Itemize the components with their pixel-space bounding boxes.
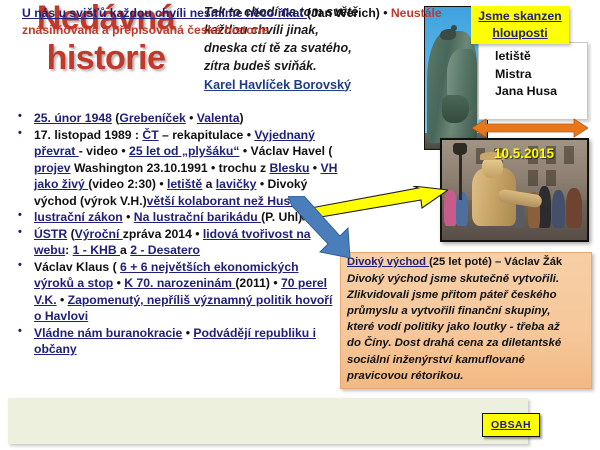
orange-body-line-6: sociální inženýrství kamuflované [347,352,586,368]
yellow-callout-line-1: Jsme skanzen [478,8,561,25]
orange-double-arrow-icon [472,118,588,138]
bullet-link[interactable]: Zapomenutý, nepříliš významný politik ho… [34,293,332,324]
list-item: 25. únor 1948 (Grebeníček • Valenta) [8,110,338,127]
orange-box-body: Divoký východ jsme skutečně vytvořili. Z… [347,271,586,384]
bullet-text: • [309,161,320,175]
title-line-2: historie [6,38,206,78]
orange-body-line-7: pravicovou rétorikou. [347,368,586,384]
bullet-link[interactable]: 1 - KHB [73,243,120,257]
bullet-text: zpráva 2014 • [123,227,203,241]
bullet-text: ( [67,227,74,241]
bullet-link[interactable]: ÚSTR [34,227,67,241]
bullet-link[interactable]: 2 - Desatero [130,243,200,257]
white-callout-box: letiště Mistra Jana Husa [478,42,588,120]
bullet-text: • [186,111,197,125]
orange-quote-box: Divoký východ (25 let poté) – Václav Žák… [340,252,592,389]
bullet-text: - video • [79,144,129,158]
bullet-link[interactable]: 25 let od „plyšáku“ [129,144,239,158]
white-callout-line-2: Mistra [495,66,587,84]
bullet-text: 17. listopad 1989 : [34,128,142,142]
bullet-text: • [57,293,68,307]
bullet-link[interactable]: projev [34,161,71,175]
bullet-link[interactable]: Blesku [269,161,309,175]
bullet-text: • [113,276,124,290]
white-callout-line-3: Jana Husa [495,83,587,101]
orange-body-line-3: průmyslu a vytvořili finanční skupiny, [347,303,586,319]
bullet-text: (video 2:30) • [88,177,167,191]
list-item: Václav Klaus ( 6 + 6 největších ekonomic… [8,259,338,325]
orange-body-line-4: které vodí politiky jako loutky - třeba … [347,319,586,335]
bottom-banner [8,398,528,444]
yellow-callout-line-2: hlouposti [492,25,547,42]
bullet-link[interactable]: Valenta [197,111,240,125]
blue-arrow-icon [288,196,356,266]
bullet-text: Václav Klaus ( [34,260,120,274]
bullet-link[interactable]: větší kolaborant než Husák [147,194,304,208]
bottom-banner-text: U nás u svišťů každou chvíli nesmíme něc… [22,5,518,40]
quote-line-3: dneska ctí tě za svatého, [204,40,422,58]
bullet-text: – rekapitulace • [159,128,255,142]
bullet-text: : [65,243,72,257]
quote-author-link[interactable]: Karel Havlíček Borovský [204,77,422,95]
quote-line-4: zítra budeš sviňák. [204,58,422,76]
bottom-author: (Jan Werich) • [307,6,391,20]
bullet-link[interactable]: lustrační zákon [34,210,123,224]
bullet-link[interactable]: K 70. narozeninám [124,276,235,290]
bullet-link[interactable]: letiště [167,177,202,191]
list-item: Vládne nám buranokracie • Podvádějí repu… [8,325,338,358]
bullet-text: Washington 23.10.1991 • trochu z [71,161,270,175]
living-statue-street-photo: 10.5.2015 [440,138,589,242]
bullet-text: a [202,177,216,191]
orange-box-title-rest: (25 let poté) – Václav Žák [429,256,562,268]
bullet-text: a [120,243,130,257]
white-callout-line-1: letiště [495,48,587,66]
bullet-text: ) [239,111,243,125]
bottom-link[interactable]: U nás u svišťů každou chvíli nesmíme něc… [22,6,307,20]
photo-date-label: 10.5.2015 [494,146,554,161]
bullet-link[interactable]: lavičky [216,177,257,191]
orange-body-line-1: Divoký východ jsme skutečně vytvořili. [347,271,586,287]
orange-body-line-2: Zlikvidovali jsme přitom páteř českého [347,287,586,303]
bullet-link[interactable]: Výroční [75,227,123,241]
orange-box-title: Divoký východ (25 let poté) – Václav Žák [347,255,586,270]
bullet-text: (2011) • [235,276,281,290]
bullet-text: • [182,326,193,340]
bullet-link[interactable]: Na lustrační barikádu [134,210,261,224]
bullet-link[interactable]: Vládne nám buranokracie [34,326,182,340]
bullet-link[interactable]: 25. únor 1948 [34,111,112,125]
orange-box-title-link[interactable]: Divoký východ [347,256,429,268]
bullet-text: • [123,210,134,224]
bullet-link[interactable]: ČT [142,128,158,142]
bullet-link[interactable]: Grebeníček [119,111,185,125]
orange-body-line-5: do Číny. Dost drahá cena za diletantské [347,335,586,351]
obsah-button[interactable]: OBSAH [482,413,540,437]
yellow-callout-box[interactable]: Jsme skanzen hlouposti [471,6,569,44]
bullet-text: • Václav Havel ( [239,144,332,158]
